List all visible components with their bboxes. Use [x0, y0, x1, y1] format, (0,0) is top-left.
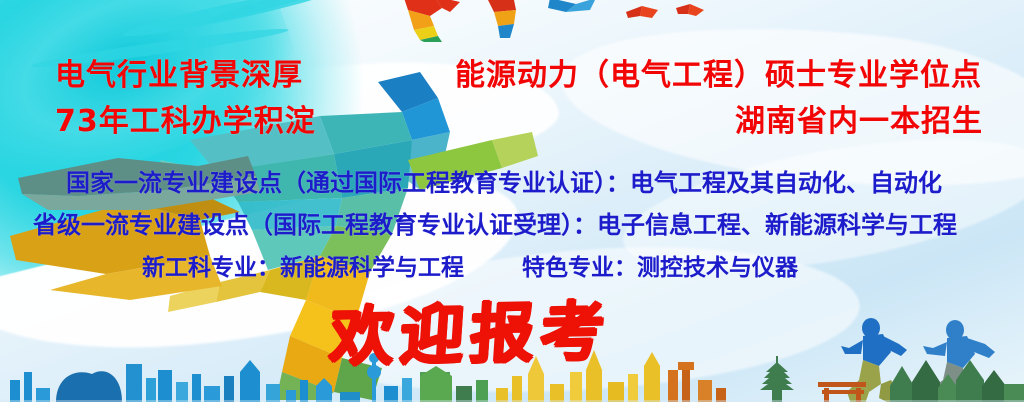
program-line-national: 国家一流专业建设点（通过国际工程教育专业认证）：电气工程及其自动化、自动化	[66, 163, 942, 198]
welcome-slogan: 欢迎报考	[327, 280, 614, 378]
colorful-ski-jumper-figures	[390, 0, 720, 47]
headline-red-1: 电气行业背景深厚	[55, 50, 303, 94]
headline-red-3: 能源动力（电气工程）硕士专业学位点	[455, 50, 982, 94]
headline-red-4: 湖南省内一本招生	[735, 96, 983, 140]
program-line-provincial: 省级一流专业建设点（国际工程教育专业认证受理）：电子信息工程、新能源科学与工程	[33, 205, 957, 240]
program-line-specialties: 新工科专业：新能源科学与工程 特色专业：测控技术与仪器	[142, 248, 798, 282]
new-engineering-major-label: 新工科专业：新能源科学与工程	[142, 255, 464, 281]
admissions-banner: 电气行业背景深厚 73年工科办学积淀 能源动力（电气工程）硕士专业学位点 湖南省…	[0, 0, 1024, 402]
featured-major-label: 特色专业：测控技术与仪器	[522, 255, 798, 281]
headline-red-2: 73年工科办学积淀	[55, 96, 316, 140]
